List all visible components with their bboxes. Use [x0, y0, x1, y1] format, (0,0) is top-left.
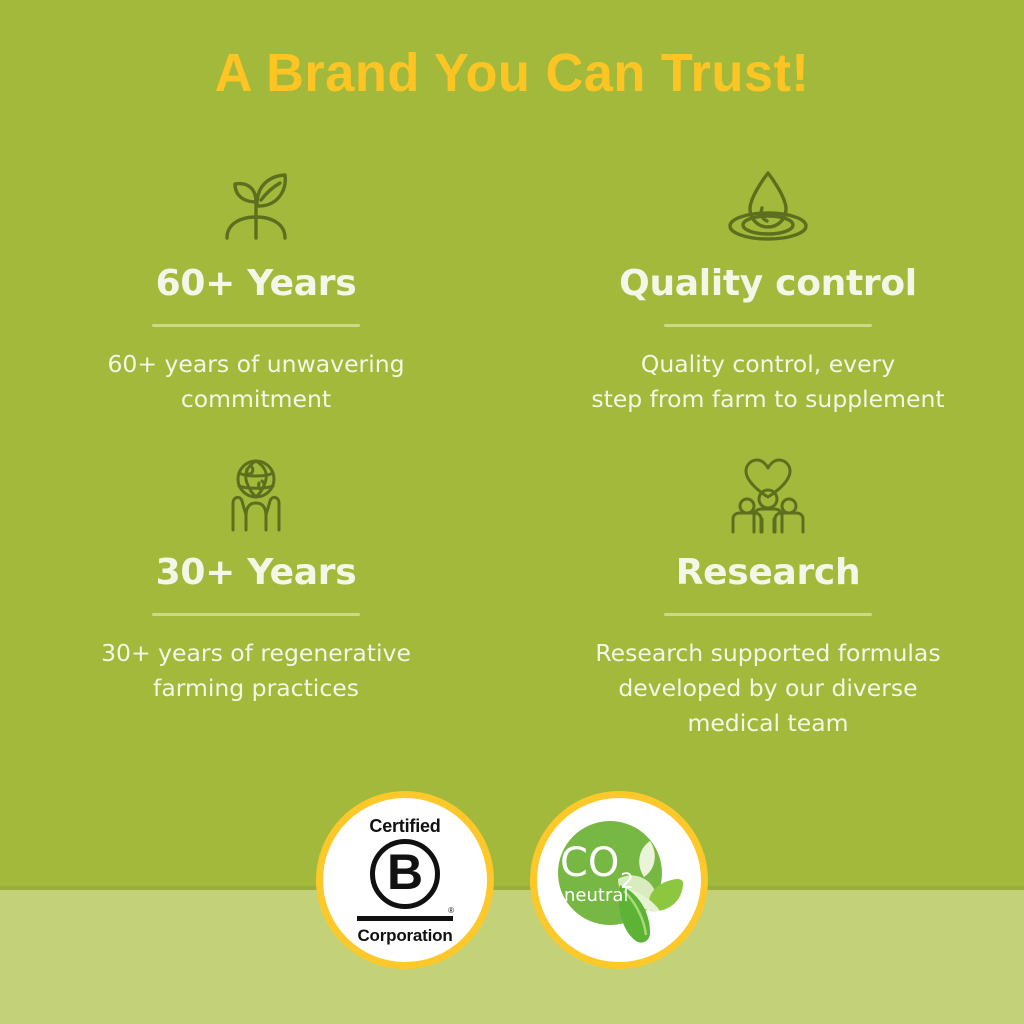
b-corp-bottom-text: Corporation	[357, 927, 452, 944]
co2-neutral-badge: CO2 neutral	[530, 791, 708, 969]
co2-subscript: 2	[620, 869, 633, 893]
feature-description: Quality control, every step from farm to…	[591, 347, 944, 417]
brand-trust-poster: A Brand You Can Trust! 60+ Years 60+ yea…	[0, 0, 1024, 1024]
feature-card-quality-control: Quality control Quality control, every s…	[512, 158, 1024, 417]
feature-title: 60+ Years	[156, 266, 357, 302]
co2-main-text: CO	[560, 840, 619, 886]
feature-divider	[152, 324, 360, 327]
b-corp-lockup: Certified B ® Corporation	[357, 817, 453, 944]
water-drop-ripple-icon	[725, 158, 811, 250]
features-row-1: 60+ Years 60+ years of unwavering commit…	[0, 158, 1024, 417]
feature-card-research: Research Research supported formulas dev…	[512, 447, 1024, 741]
b-corp-certified-badge: Certified B ® Corporation	[316, 791, 494, 969]
hands-holding-globe-icon	[213, 447, 299, 539]
feature-title: Research	[676, 555, 861, 591]
features-row-2: 30+ Years 30+ years of regenerative farm…	[0, 447, 1024, 741]
co2-lockup: CO2 neutral	[546, 807, 692, 953]
b-corp-rule	[357, 916, 453, 921]
feature-card-60-years: 60+ Years 60+ years of unwavering commit…	[0, 158, 512, 417]
features-grid: 60+ Years 60+ years of unwavering commit…	[0, 158, 1024, 741]
feature-description: Research supported formulas developed by…	[595, 636, 940, 741]
feature-description: 30+ years of regenerative farming practi…	[101, 636, 411, 706]
feature-title: Quality control	[619, 266, 917, 302]
feature-card-30-years: 30+ Years 30+ years of regenerative farm…	[0, 447, 512, 741]
registered-trademark-icon: ®	[448, 907, 454, 915]
page-title: A Brand You Can Trust!	[15, 42, 1008, 104]
feature-title: 30+ Years	[156, 555, 357, 591]
certification-badges: Certified B ® Corporation	[0, 791, 1024, 969]
feature-description: 60+ years of unwavering commitment	[107, 347, 404, 417]
b-corp-top-text: Certified	[369, 817, 440, 835]
seedling-icon	[213, 158, 299, 250]
b-corp-b-letter: B	[387, 847, 423, 897]
feature-divider	[664, 324, 872, 327]
b-corp-b-mark: B	[370, 839, 440, 909]
co2-text-lockup: CO2 neutral	[560, 843, 633, 905]
feature-divider	[664, 613, 872, 616]
feature-divider	[152, 613, 360, 616]
people-heart-icon	[725, 447, 811, 539]
b-corp-rule-wrap: ®	[357, 916, 453, 921]
